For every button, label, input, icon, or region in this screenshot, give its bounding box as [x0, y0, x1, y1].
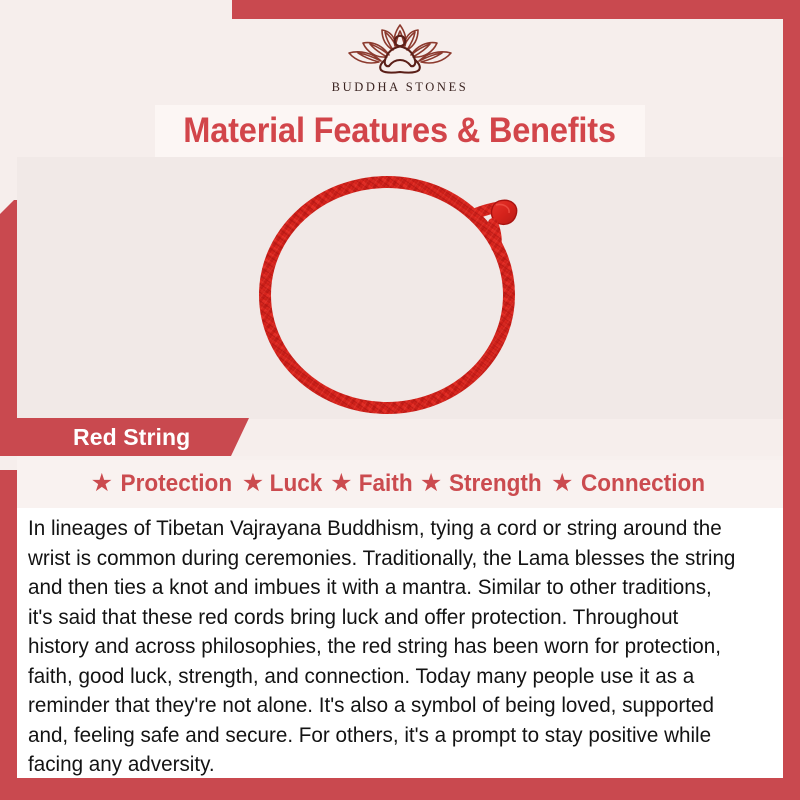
page-title: Material Features & Benefits — [184, 111, 617, 151]
page-title-band: Material Features & Benefits — [155, 105, 645, 157]
brand-wordmark: BUDDHA STONES — [332, 80, 469, 95]
frame-left-bar-lower — [0, 470, 17, 800]
benefit-label: Luck — [270, 470, 323, 498]
star-icon: ★ — [330, 471, 352, 496]
benefit-label: Protection — [121, 470, 233, 498]
frame-bottom-bar — [0, 778, 800, 800]
brand-logo: BUDDHA STONES — [0, 19, 800, 105]
description-panel: In lineages of Tibetan Vajrayana Buddhis… — [17, 508, 783, 778]
product-name-banner: Red String — [17, 418, 249, 456]
benefit-item-faith: ★ Faith — [330, 470, 414, 498]
benefits-row: ★ Protection ★ Luck ★ Faith ★ Strength ★… — [17, 460, 783, 508]
frame-top-bar — [232, 0, 800, 19]
benefit-item-luck: ★ Luck — [242, 470, 324, 498]
benefit-item-connection: ★ Connection — [551, 470, 709, 498]
star-icon: ★ — [91, 471, 113, 496]
benefit-label: Faith — [358, 470, 412, 498]
lotus-meditation-icon — [325, 19, 475, 79]
product-name-label: Red String — [73, 424, 190, 451]
red-string-bracelet-image — [255, 165, 545, 420]
star-icon: ★ — [242, 471, 264, 496]
benefit-item-protection: ★ Protection — [91, 470, 236, 498]
description-body: In lineages of Tibetan Vajrayana Buddhis… — [28, 514, 739, 780]
frame-right-bar — [783, 0, 800, 800]
benefit-label: Connection — [581, 470, 705, 498]
benefit-item-strength: ★ Strength — [420, 470, 545, 498]
star-icon: ★ — [420, 471, 442, 496]
infographic-poster: BUDDHA STONES Material Features & Benefi… — [0, 0, 800, 800]
product-image-panel — [17, 157, 783, 419]
star-icon: ★ — [551, 471, 573, 496]
banner-left-accent — [0, 418, 17, 456]
benefit-label: Strength — [449, 470, 542, 498]
frame-left-bar-upper — [0, 200, 17, 446]
